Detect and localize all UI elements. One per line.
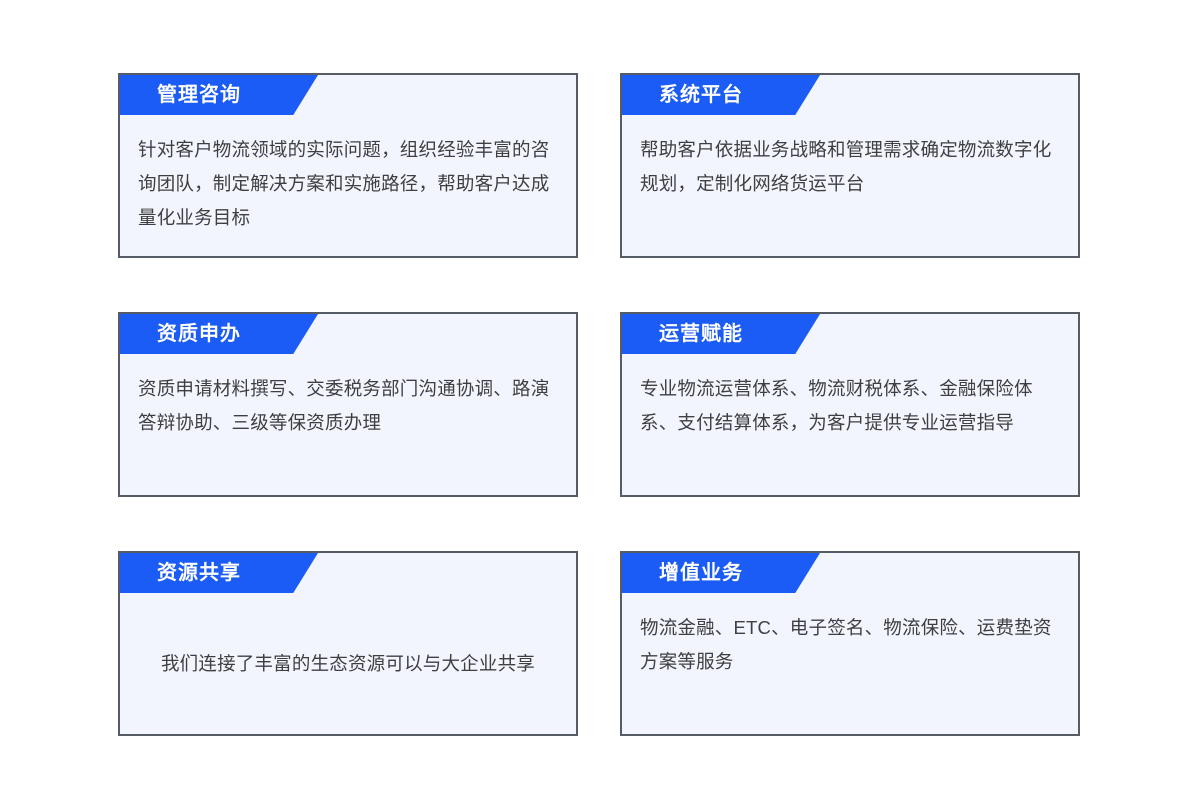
service-card-resource-sharing[interactable]: 资源共享 我们连接了丰富的生态资源可以与大企业共享 [118, 551, 578, 736]
card-title: 管理咨询 [157, 85, 241, 105]
card-body: 针对客户物流领域的实际问题，组织经验丰富的咨询团队，制定解决方案和实施路径，帮助… [120, 115, 576, 256]
card-banner-qualification-application: 资质申办 [120, 314, 318, 354]
card-banner-operation-empowerment: 运营赋能 [622, 314, 820, 354]
card-description: 针对客户物流领域的实际问题，组织经验丰富的咨询团队，制定解决方案和实施路径，帮助… [138, 115, 558, 235]
service-capability-board: 管理咨询 针对客户物流领域的实际问题，组织经验丰富的咨询团队，制定解决方案和实施… [0, 0, 1200, 800]
card-description: 我们连接了丰富的生态资源可以与大企业共享 [138, 647, 558, 681]
card-description: 物流金融、ETC、电子签名、物流保险、运费垫资方案等服务 [640, 593, 1060, 679]
service-card-qualification-application[interactable]: 资质申办 资质申请材料撰写、交委税务部门沟通协调、路演答辩协助、三级等保资质办理 [118, 312, 578, 497]
card-description: 资质申请材料撰写、交委税务部门沟通协调、路演答辩协助、三级等保资质办理 [138, 354, 558, 440]
service-card-management-consulting[interactable]: 管理咨询 针对客户物流领域的实际问题，组织经验丰富的咨询团队，制定解决方案和实施… [118, 73, 578, 258]
card-banner-value-added-business: 增值业务 [622, 553, 820, 593]
card-description: 专业物流运营体系、物流财税体系、金融保险体系、支付结算体系，为客户提供专业运营指… [640, 354, 1060, 440]
card-title: 增值业务 [659, 563, 743, 583]
card-description: 帮助客户依据业务战略和管理需求确定物流数字化规划，定制化网络货运平台 [640, 115, 1060, 201]
card-body: 我们连接了丰富的生态资源可以与大企业共享 [120, 593, 576, 734]
card-body: 专业物流运营体系、物流财税体系、金融保险体系、支付结算体系，为客户提供专业运营指… [622, 354, 1078, 495]
card-body: 物流金融、ETC、电子签名、物流保险、运费垫资方案等服务 [622, 593, 1078, 734]
card-banner-resource-sharing: 资源共享 [120, 553, 318, 593]
service-card-system-platform[interactable]: 系统平台 帮助客户依据业务战略和管理需求确定物流数字化规划，定制化网络货运平台 [620, 73, 1080, 258]
card-banner-system-platform: 系统平台 [622, 75, 820, 115]
card-body: 帮助客户依据业务战略和管理需求确定物流数字化规划，定制化网络货运平台 [622, 115, 1078, 256]
service-card-operation-empowerment[interactable]: 运营赋能 专业物流运营体系、物流财税体系、金融保险体系、支付结算体系，为客户提供… [620, 312, 1080, 497]
service-card-value-added-business[interactable]: 增值业务 物流金融、ETC、电子签名、物流保险、运费垫资方案等服务 [620, 551, 1080, 736]
card-title: 资源共享 [157, 563, 241, 583]
card-banner-management-consulting: 管理咨询 [120, 75, 318, 115]
card-title: 资质申办 [157, 324, 241, 344]
card-title: 运营赋能 [659, 324, 743, 344]
card-title: 系统平台 [659, 85, 743, 105]
card-body: 资质申请材料撰写、交委税务部门沟通协调、路演答辩协助、三级等保资质办理 [120, 354, 576, 495]
service-card-grid: 管理咨询 针对客户物流领域的实际问题，组织经验丰富的咨询团队，制定解决方案和实施… [118, 73, 1080, 736]
